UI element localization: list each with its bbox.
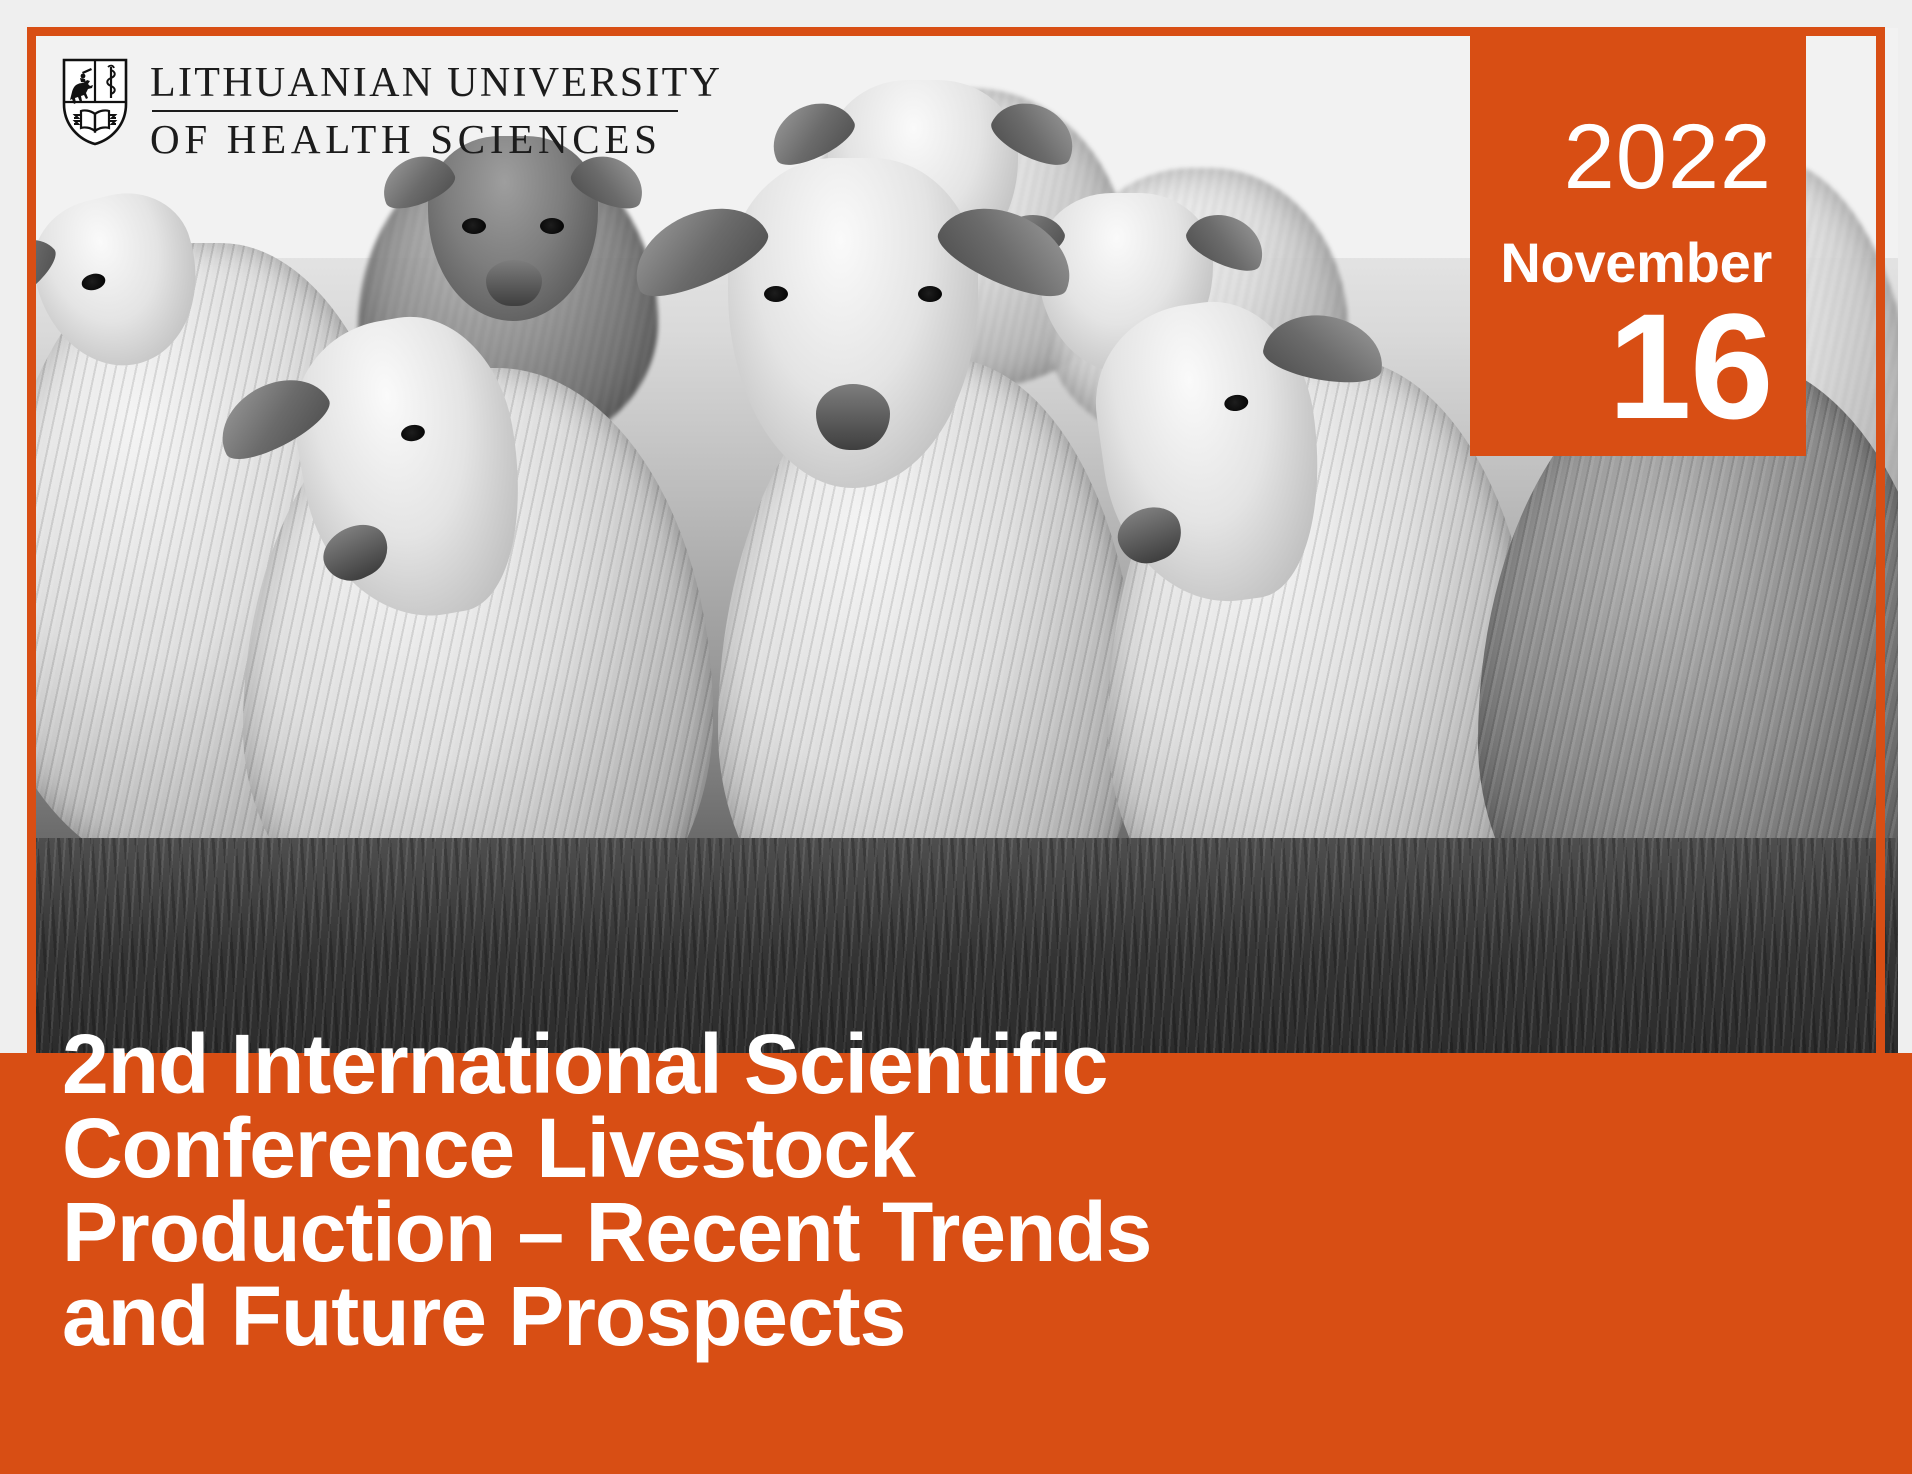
university-name-line2: OF HEALTH SCIENCES [150,119,722,160]
sheep-eye-icon [1223,393,1249,412]
sheep-eye-icon [764,286,788,302]
open-book-icon [74,110,116,131]
lsmu-coat-of-arms-icon [62,58,128,146]
sheep-eye-icon [462,218,486,234]
frame-border-right [1876,27,1885,1053]
sheep-muzzle-icon [816,384,890,450]
university-name: LITHUANIAN UNIVERSITY OF HEALTH SCIENCES [150,58,722,160]
university-name-divider [152,110,678,112]
university-name-line1: LITHUANIAN UNIVERSITY [150,62,722,104]
event-year: 2022 [1470,114,1772,201]
conference-title-line: 2nd International Scientific [62,1022,1852,1106]
conference-title-line: Conference Livestock [62,1106,1852,1190]
sheep-eye-icon [540,218,564,234]
sheep-eye-icon [80,271,107,292]
conference-title-line: and Future Prospects [62,1274,1852,1358]
conference-title-line: Production – Recent Trends [62,1190,1852,1274]
sheep-eye-icon [400,423,426,443]
conference-title: 2nd International Scientific Conference … [62,1022,1852,1358]
sheep-eye-icon [918,286,942,302]
sheep-muzzle-icon [1111,499,1190,572]
event-day: 16 [1470,297,1772,435]
university-logo: LITHUANIAN UNIVERSITY OF HEALTH SCIENCES [62,58,722,160]
sheep-muzzle-icon [486,260,542,306]
conference-poster: LITHUANIAN UNIVERSITY OF HEALTH SCIENCES… [0,0,1912,1474]
event-date-block: 2022 November 16 [1470,28,1806,456]
